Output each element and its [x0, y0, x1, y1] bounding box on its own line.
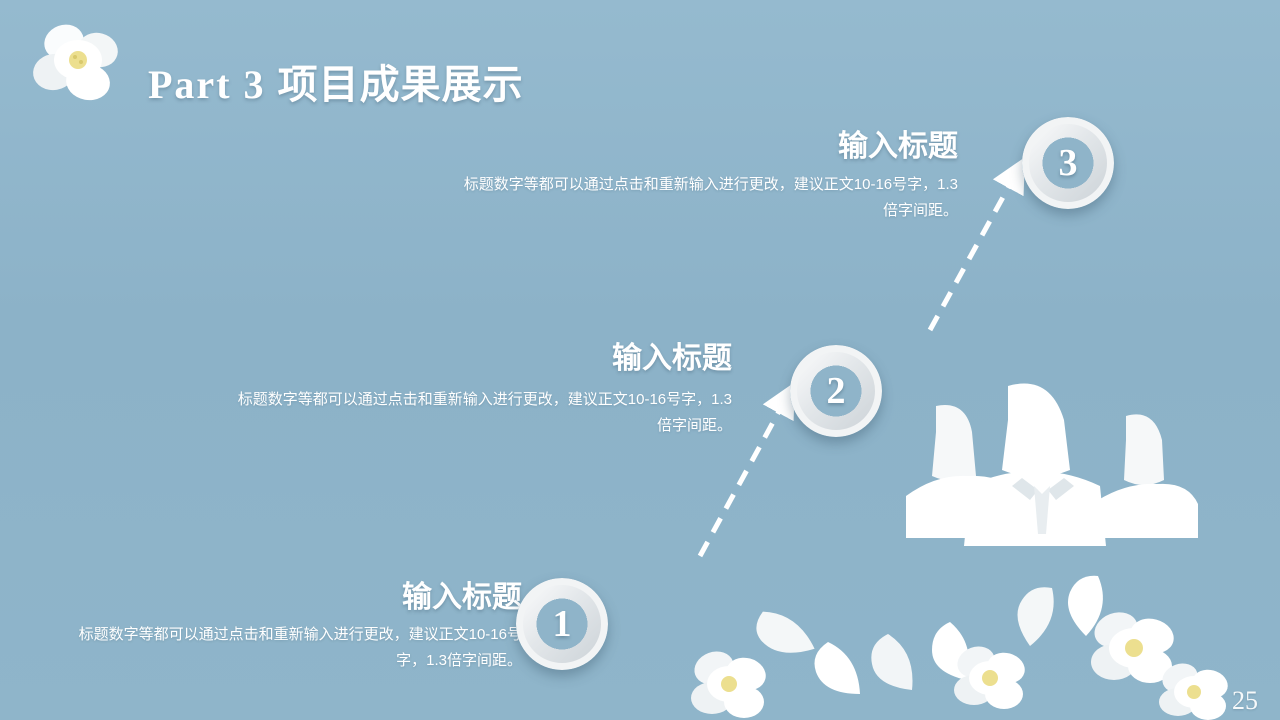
step-1-heading: 输入标题 [402, 572, 522, 616]
page-title-latin: Part 3 [148, 62, 266, 107]
page-number: 25 [1232, 686, 1258, 716]
step-2-heading: 输入标题 [612, 333, 732, 377]
flower-icon [26, 20, 136, 120]
slide-canvas: Part 3 项目成果展示 输入标题 标题数字等都可以通过点击和重新输入进行更改… [0, 0, 1280, 720]
step-3-number-badge[interactable]: 3 [1022, 117, 1114, 209]
leaf-icon [754, 576, 1103, 694]
step-1-body: 标题数字等都可以通过点击和重新输入进行更改，建议正文10-16号字，1.3倍字间… [72, 622, 522, 675]
people-group-icon [900, 378, 1200, 568]
step-1-number-badge[interactable]: 1 [516, 578, 608, 670]
flower-icon [1090, 607, 1178, 683]
step-2-number-badge[interactable]: 2 [790, 345, 882, 437]
page-title: Part 3 项目成果展示 [148, 52, 524, 110]
step-3-body: 标题数字等都可以通过点击和重新输入进行更改，建议正文10-16号字，1.3倍字间… [458, 172, 958, 225]
bottom-decoration [620, 552, 1280, 720]
step-3-heading: 输入标题 [838, 121, 958, 165]
step-2-body: 标题数字等都可以通过点击和重新输入进行更改，建议正文10-16号字，1.3倍字间… [232, 387, 732, 440]
flower-icon [690, 646, 770, 718]
page-title-cn: 项目成果展示 [278, 63, 524, 107]
step-1-number: 1 [553, 602, 572, 646]
step-3-number: 3 [1059, 141, 1078, 185]
step-2-number: 2 [827, 369, 846, 413]
